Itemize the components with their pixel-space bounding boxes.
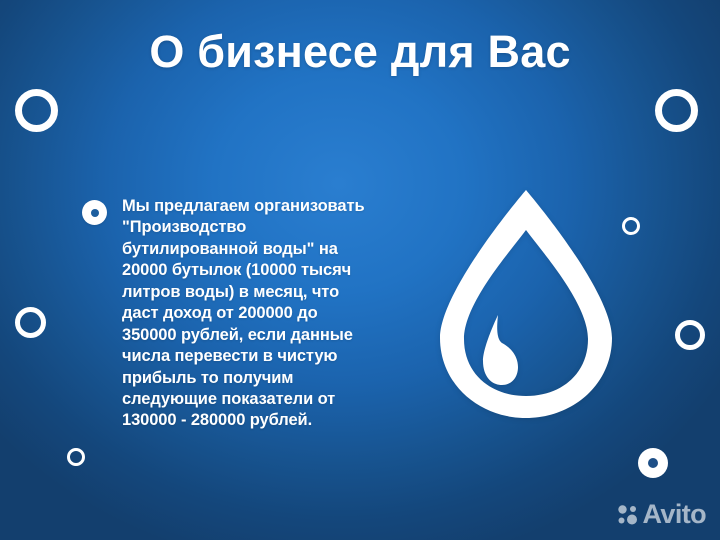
- avito-watermark: Avito: [616, 501, 707, 528]
- donut-bullet-icon: [82, 200, 107, 225]
- dot-bottom-right-icon: [638, 448, 668, 478]
- ring-small-right-icon: [622, 217, 640, 235]
- avito-watermark-text: Avito: [643, 501, 707, 528]
- bullet-body-text: Мы предлагаем организовать "Производство…: [122, 196, 364, 432]
- ring-middle-left-icon: [15, 307, 46, 338]
- ring-top-left-icon: [15, 89, 58, 132]
- water-drop-icon: [436, 186, 616, 422]
- slide-title: О бизнесе для Вас: [0, 26, 720, 78]
- bullet-block: Мы предлагаем организовать "Производство…: [82, 196, 402, 432]
- ring-top-right-icon: [655, 89, 698, 132]
- ring-small-bottom-left-icon: [67, 448, 85, 466]
- presentation-slide: О бизнесе для Вас Мы предлагаем организо…: [0, 0, 720, 540]
- avito-dots-icon: [616, 503, 640, 527]
- ring-middle-right-icon: [675, 320, 705, 350]
